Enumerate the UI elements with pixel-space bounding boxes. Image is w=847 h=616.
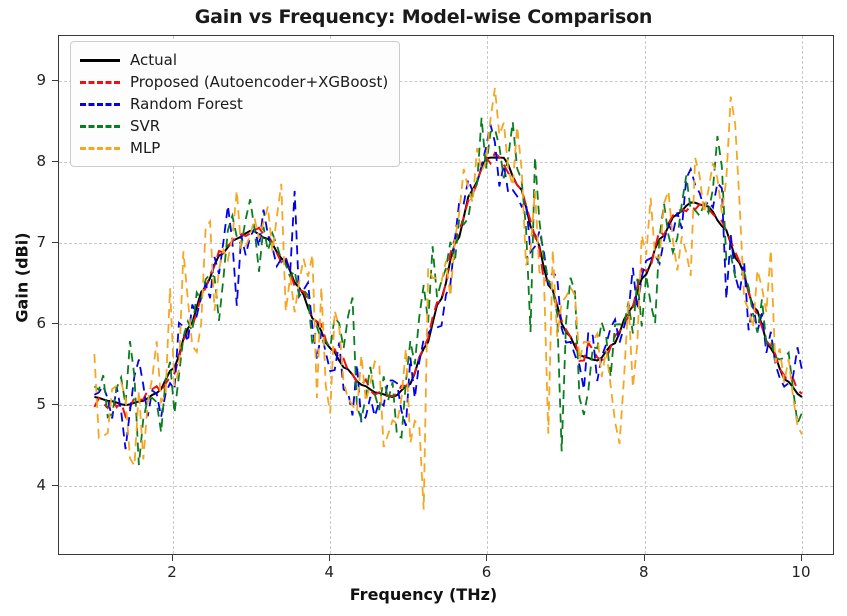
- legend-color-swatch: [80, 147, 120, 150]
- y-tick-label: 4: [0, 476, 46, 494]
- y-tick-label: 9: [0, 71, 46, 89]
- legend-item[interactable]: SVR: [80, 115, 388, 137]
- x-tick-label: 10: [771, 563, 831, 581]
- legend-label: Random Forest: [130, 95, 243, 113]
- x-tick-label: 2: [142, 563, 202, 581]
- chart-figure: Gain vs Frequency: Model-wise Comparison…: [0, 0, 847, 616]
- x-tick-mark: [801, 555, 802, 561]
- legend-color-swatch: [80, 125, 120, 128]
- series-line-actual: [94, 158, 802, 405]
- y-tick-mark: [52, 404, 58, 405]
- chart-title: Gain vs Frequency: Model-wise Comparison: [0, 6, 847, 28]
- y-tick-mark: [52, 161, 58, 162]
- x-tick-mark: [172, 555, 173, 561]
- legend-label: SVR: [130, 117, 160, 135]
- legend-color-swatch: [80, 103, 120, 106]
- legend-item[interactable]: MLP: [80, 137, 388, 159]
- x-tick-label: 4: [299, 563, 359, 581]
- legend-item[interactable]: Random Forest: [80, 93, 388, 115]
- series-line-random-forest: [94, 125, 802, 450]
- y-tick-label: 5: [0, 395, 46, 413]
- y-tick-mark: [52, 80, 58, 81]
- y-tick-mark: [52, 323, 58, 324]
- series-line-proposed-autoencoder-xgboost: [94, 153, 802, 416]
- legend-label: Actual: [130, 51, 177, 69]
- y-tick-mark: [52, 485, 58, 486]
- legend-item[interactable]: Proposed (Autoencoder+XGBoost): [80, 71, 388, 93]
- x-tick-mark: [644, 555, 645, 561]
- legend-label: Proposed (Autoencoder+XGBoost): [130, 73, 388, 91]
- y-axis-label: Gain (dBi): [13, 168, 32, 388]
- x-tick-mark: [329, 555, 330, 561]
- chart-legend[interactable]: ActualProposed (Autoencoder+XGBoost)Rand…: [70, 41, 400, 167]
- legend-color-swatch: [80, 59, 120, 62]
- legend-label: MLP: [130, 139, 160, 157]
- legend-item[interactable]: Actual: [80, 49, 388, 71]
- x-axis-label: Frequency (THz): [0, 585, 847, 604]
- legend-color-swatch: [80, 81, 120, 84]
- x-tick-mark: [486, 555, 487, 561]
- x-tick-label: 8: [614, 563, 674, 581]
- y-tick-mark: [52, 242, 58, 243]
- x-tick-label: 6: [456, 563, 516, 581]
